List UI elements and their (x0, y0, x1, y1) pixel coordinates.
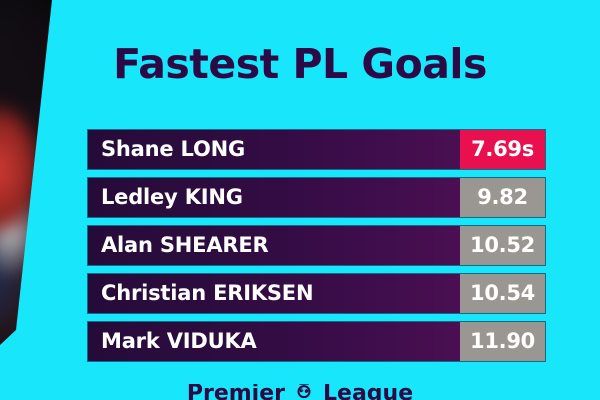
brand-name-second: League (323, 384, 413, 400)
player-name: Mark VIDUKA (101, 331, 257, 352)
time-value: 9.82 (477, 187, 528, 208)
player-name: Ledley KING (101, 187, 243, 208)
leaderboard-list: Shane LONG 7.69s Ledley KING 9.82 Alan S… (88, 130, 545, 361)
premier-league-logo: Premier League (0, 384, 600, 400)
time-value: 10.52 (470, 235, 535, 256)
time-value-box: 11.90 (460, 322, 545, 361)
player-name: Christian ERIKSEN (101, 283, 313, 304)
player-name-bar: Alan SHEARER (88, 226, 460, 265)
time-value-box: 10.52 (460, 226, 545, 265)
player-name: Alan SHEARER (101, 235, 268, 256)
page-title: Fastest PL Goals (0, 44, 600, 85)
time-value-box: 9.82 (460, 178, 545, 217)
player-name: Shane LONG (101, 139, 245, 160)
table-row: Christian ERIKSEN 10.54 (88, 274, 545, 313)
player-name-bar: Ledley KING (88, 178, 460, 217)
time-value-box: 7.69s (460, 130, 545, 169)
table-row: Shane LONG 7.69s (88, 130, 545, 169)
premier-league-lion-crest-icon (291, 384, 317, 400)
player-name-bar: Christian ERIKSEN (88, 274, 460, 313)
time-value: 7.69s (471, 139, 534, 160)
time-value-box: 10.54 (460, 274, 545, 313)
brand-name-first: Premier (187, 384, 285, 400)
player-name-bar: Mark VIDUKA (88, 322, 460, 361)
table-row: Mark VIDUKA 11.90 (88, 322, 545, 361)
time-value: 10.54 (470, 283, 535, 304)
time-value: 11.90 (470, 331, 535, 352)
graphic-root: Fastest PL Goals Shane LONG 7.69s Ledley… (0, 0, 600, 400)
table-row: Ledley KING 9.82 (88, 178, 545, 217)
table-row: Alan SHEARER 10.52 (88, 226, 545, 265)
player-name-bar: Shane LONG (88, 130, 460, 169)
